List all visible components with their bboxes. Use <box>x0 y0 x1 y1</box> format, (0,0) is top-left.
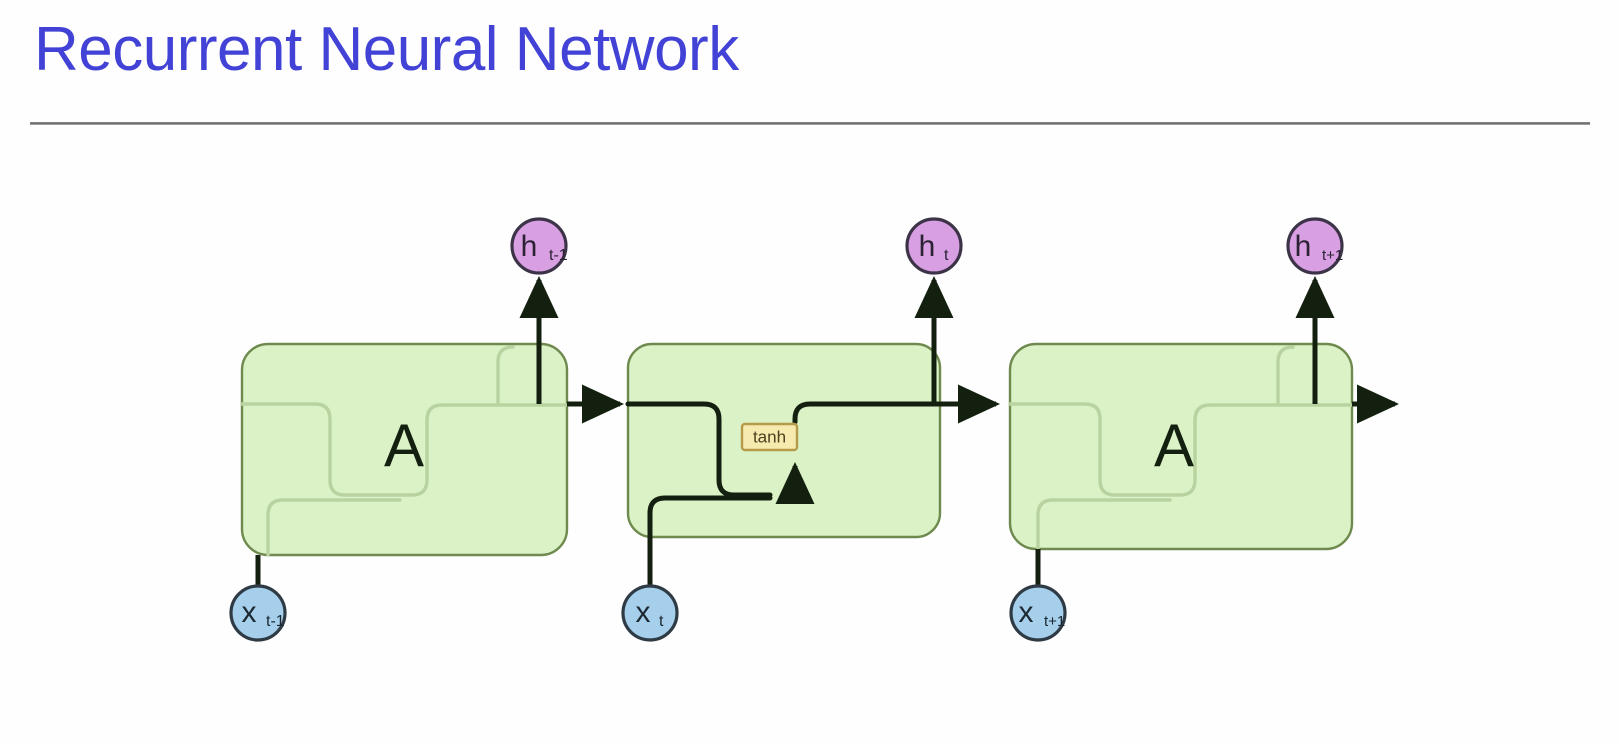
hidden-node-sub-prev: t-1 <box>549 247 568 264</box>
cell-label-prev: A <box>384 412 424 479</box>
input-node-base-next: x <box>1019 596 1034 629</box>
input-node-current[interactable]: x t <box>623 586 677 640</box>
input-node-base-prev: x <box>242 596 257 629</box>
hidden-node-current[interactable]: h t <box>907 219 961 273</box>
rnn-cell-next[interactable]: A h t+1 x t+1 <box>1010 219 1395 640</box>
slide-canvas: Recurrent Neural Network <box>0 0 1620 745</box>
rnn-cell-current[interactable]: tanh h t x t <box>623 219 996 640</box>
input-node-sub-prev: t-1 <box>266 613 285 630</box>
hidden-node-base-current: h <box>919 230 936 263</box>
input-node-sub-next: t+1 <box>1044 613 1065 630</box>
cell-label-next: A <box>1154 412 1194 479</box>
page-title: Recurrent Neural Network <box>34 14 739 85</box>
input-node-sub-current: t <box>659 613 664 630</box>
hidden-node-base-prev: h <box>521 230 538 263</box>
gate-label-current: tanh <box>753 427 786 446</box>
tanh-gate-current[interactable]: tanh <box>742 424 797 450</box>
hidden-node-sub-next: t+1 <box>1322 247 1343 264</box>
hidden-node-sub-current: t <box>944 247 949 264</box>
rnn-cell-prev[interactable]: A h t-1 x t-1 <box>231 219 620 640</box>
input-node-prev[interactable]: x t-1 <box>231 586 285 640</box>
hidden-node-next[interactable]: h t+1 <box>1288 219 1343 273</box>
input-node-base-current: x <box>636 596 651 629</box>
title-divider <box>30 122 1590 125</box>
hidden-node-prev[interactable]: h t-1 <box>512 219 568 273</box>
hidden-node-base-next: h <box>1295 230 1312 263</box>
input-node-next[interactable]: x t+1 <box>1011 586 1065 640</box>
rnn-diagram-container: A h t-1 x t-1 <box>0 150 1620 710</box>
